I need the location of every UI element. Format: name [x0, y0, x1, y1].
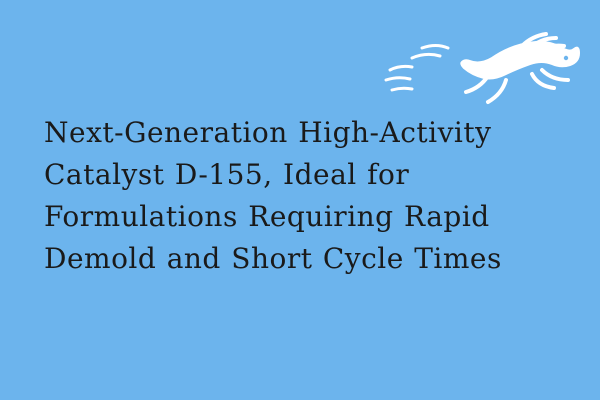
running-horse-icon — [382, 28, 582, 118]
banner-title: Next-Generation High-Activity Catalyst D… — [44, 112, 544, 280]
banner-image: Next-Generation High-Activity Catalyst D… — [0, 0, 600, 400]
